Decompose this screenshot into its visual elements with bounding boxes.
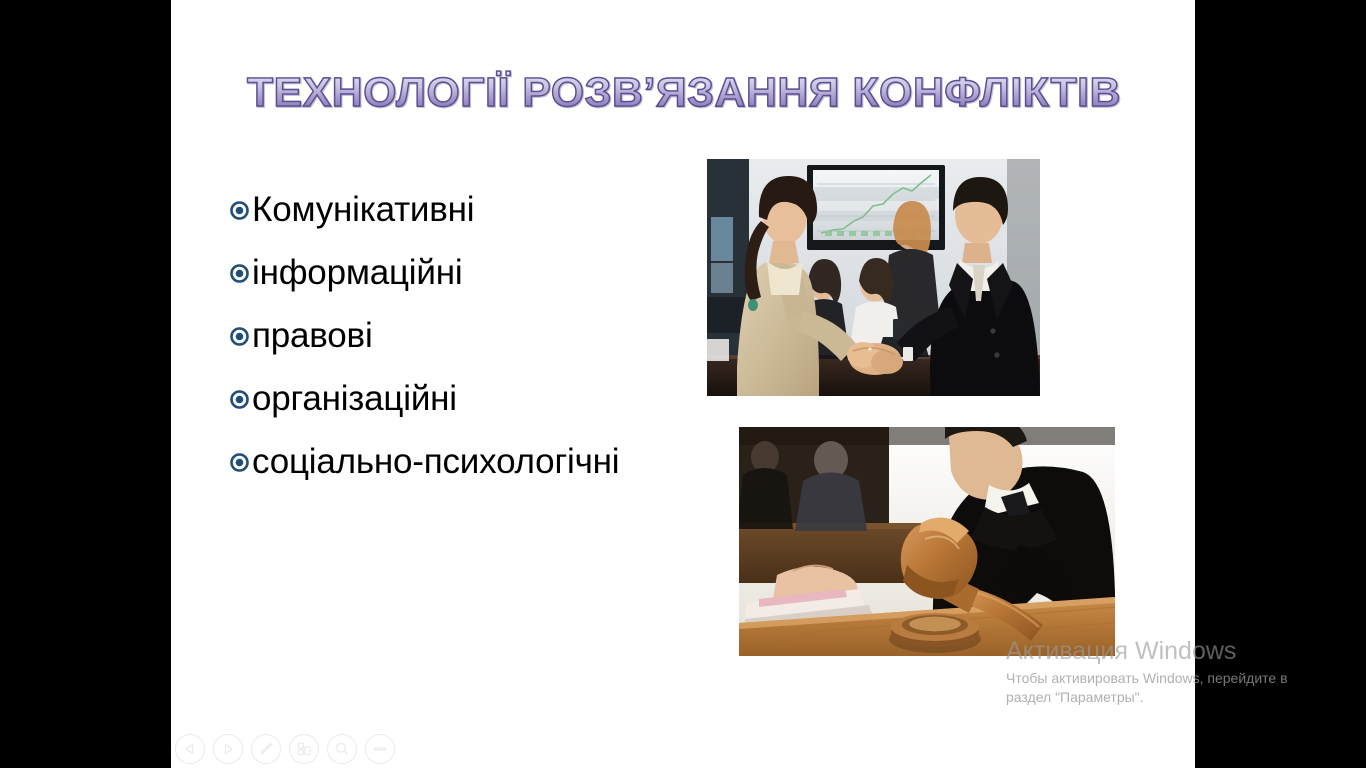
all-slides-button[interactable] bbox=[289, 734, 319, 764]
ellipsis-icon bbox=[372, 741, 388, 757]
next-slide-button[interactable] bbox=[213, 734, 243, 764]
list-item-label: правові bbox=[252, 316, 373, 356]
list-item-label: інформаційні bbox=[252, 253, 462, 293]
business-handshake-photo bbox=[707, 159, 1040, 396]
letterbox-left bbox=[0, 0, 171, 768]
grid-slides-icon bbox=[296, 741, 312, 757]
target-bullet-icon bbox=[230, 264, 249, 283]
courtroom-gavel-photo bbox=[739, 427, 1115, 656]
list-item-label: організаційні bbox=[252, 379, 457, 419]
slide-canvas[interactable]: ТЕХНОЛОГІЇ РОЗВ’ЯЗАННЯ КОНФЛІКТІВ Комуні… bbox=[171, 0, 1195, 768]
triangle-left-icon bbox=[183, 742, 197, 756]
previous-slide-button[interactable] bbox=[175, 734, 205, 764]
pen-tools-button[interactable] bbox=[251, 734, 281, 764]
list-item-label: Комунікативні bbox=[252, 190, 474, 230]
list-item: організаційні bbox=[230, 367, 750, 430]
target-bullet-icon bbox=[230, 453, 249, 472]
list-item: Комунікативні bbox=[230, 178, 750, 241]
presenter-toolbar bbox=[175, 734, 395, 764]
magnifier-icon bbox=[334, 741, 350, 757]
list-item: соціально-психологічні bbox=[230, 430, 750, 493]
letterbox-right bbox=[1195, 0, 1366, 768]
list-item: правові bbox=[230, 304, 750, 367]
presentation-slideshow-window: ТЕХНОЛОГІЇ РОЗВ’ЯЗАННЯ КОНФЛІКТІВ Комуні… bbox=[0, 0, 1366, 768]
target-bullet-icon bbox=[230, 327, 249, 346]
bullet-list: Комунікативні інформаційні bbox=[230, 178, 750, 493]
zoom-button[interactable] bbox=[327, 734, 357, 764]
list-item: інформаційні bbox=[230, 241, 750, 304]
triangle-right-icon bbox=[221, 742, 235, 756]
target-bullet-icon bbox=[230, 201, 249, 220]
more-options-button[interactable] bbox=[365, 734, 395, 764]
page-title: ТЕХНОЛОГІЇ РОЗВ’ЯЗАННЯ КОНФЛІКТІВ bbox=[247, 68, 1158, 116]
title-block: ТЕХНОЛОГІЇ РОЗВ’ЯЗАННЯ КОНФЛІКТІВ bbox=[247, 68, 1123, 120]
pen-icon bbox=[258, 741, 274, 757]
target-bullet-icon bbox=[230, 390, 249, 409]
list-item-label: соціально-психологічні bbox=[252, 442, 619, 482]
